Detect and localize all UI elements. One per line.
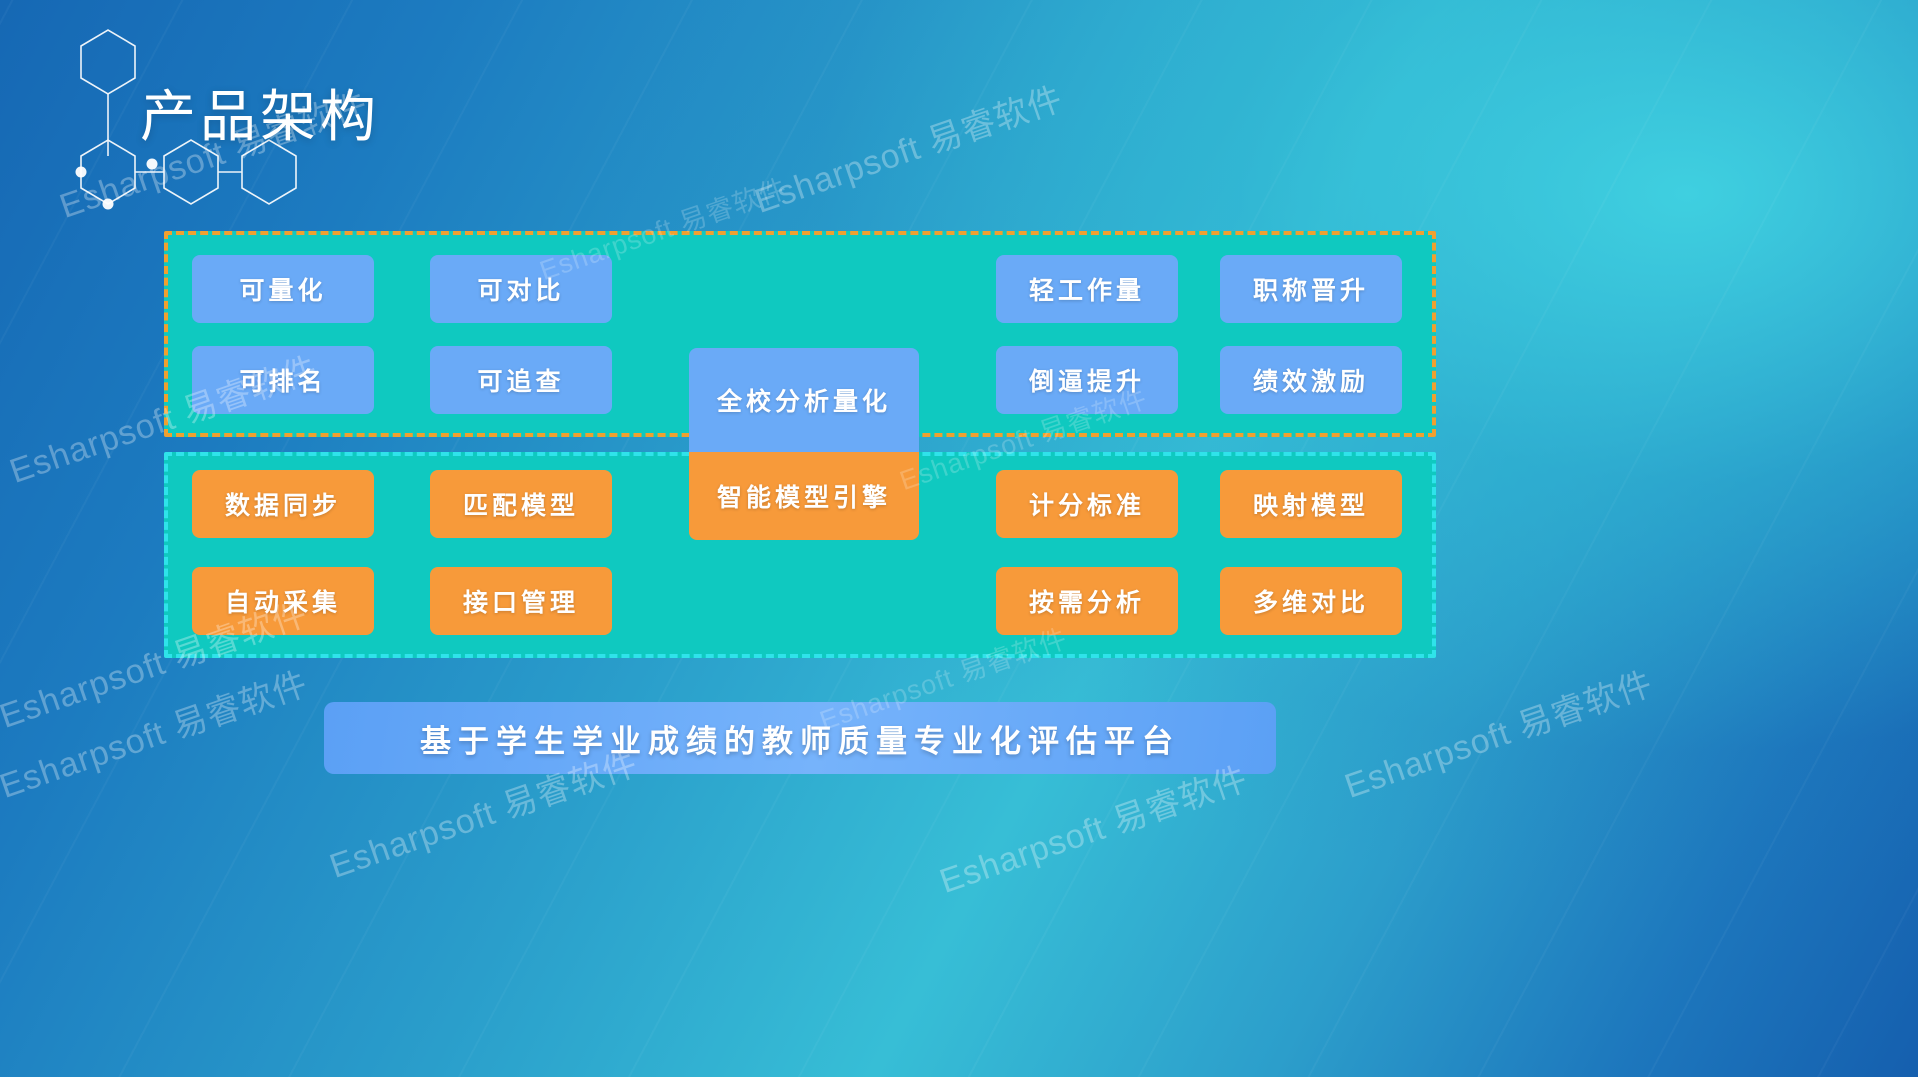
tile-top-left-1[interactable]: 可量化 xyxy=(192,255,374,323)
watermark: Esharpsoft 易睿软件 xyxy=(747,71,1068,222)
tile-bottom-left-2[interactable]: 匹配模型 xyxy=(430,470,612,538)
tile-top-right-3[interactable]: 倒逼提升 xyxy=(996,346,1178,414)
tile-bottom-right-4[interactable]: 多维对比 xyxy=(1220,567,1402,635)
tile-bottom-right-3[interactable]: 按需分析 xyxy=(996,567,1178,635)
tile-bottom-left-4[interactable]: 接口管理 xyxy=(430,567,612,635)
page-title: 产品架构 xyxy=(140,72,380,153)
tile-bottom-left-1[interactable]: 数据同步 xyxy=(192,470,374,538)
watermark: Esharpsoft 易睿软件 xyxy=(0,656,313,807)
watermark: Esharpsoft 易睿软件 xyxy=(1337,656,1658,807)
tile-top-left-2[interactable]: 可对比 xyxy=(430,255,612,323)
tile-top-right-2[interactable]: 职称晋升 xyxy=(1220,255,1402,323)
center-tile-analysis[interactable]: 全校分析量化 xyxy=(689,348,919,452)
tile-bottom-right-2[interactable]: 映射模型 xyxy=(1220,470,1402,538)
tile-bottom-right-1[interactable]: 计分标准 xyxy=(996,470,1178,538)
center-tile-engine[interactable]: 智能模型引擎 xyxy=(689,452,919,540)
tile-top-right-1[interactable]: 轻工作量 xyxy=(996,255,1178,323)
slide-canvas: 产品架构 可量化 可对比 可排名 可追查 轻工作量 职称晋升 倒逼提升 绩效激励… xyxy=(0,0,1918,1077)
platform-banner[interactable]: 基于学生学业成绩的教师质量专业化评估平台 xyxy=(324,702,1276,774)
tile-top-left-4[interactable]: 可追查 xyxy=(430,346,612,414)
tile-top-right-4[interactable]: 绩效激励 xyxy=(1220,346,1402,414)
tile-top-left-3[interactable]: 可排名 xyxy=(192,346,374,414)
tile-bottom-left-3[interactable]: 自动采集 xyxy=(192,567,374,635)
